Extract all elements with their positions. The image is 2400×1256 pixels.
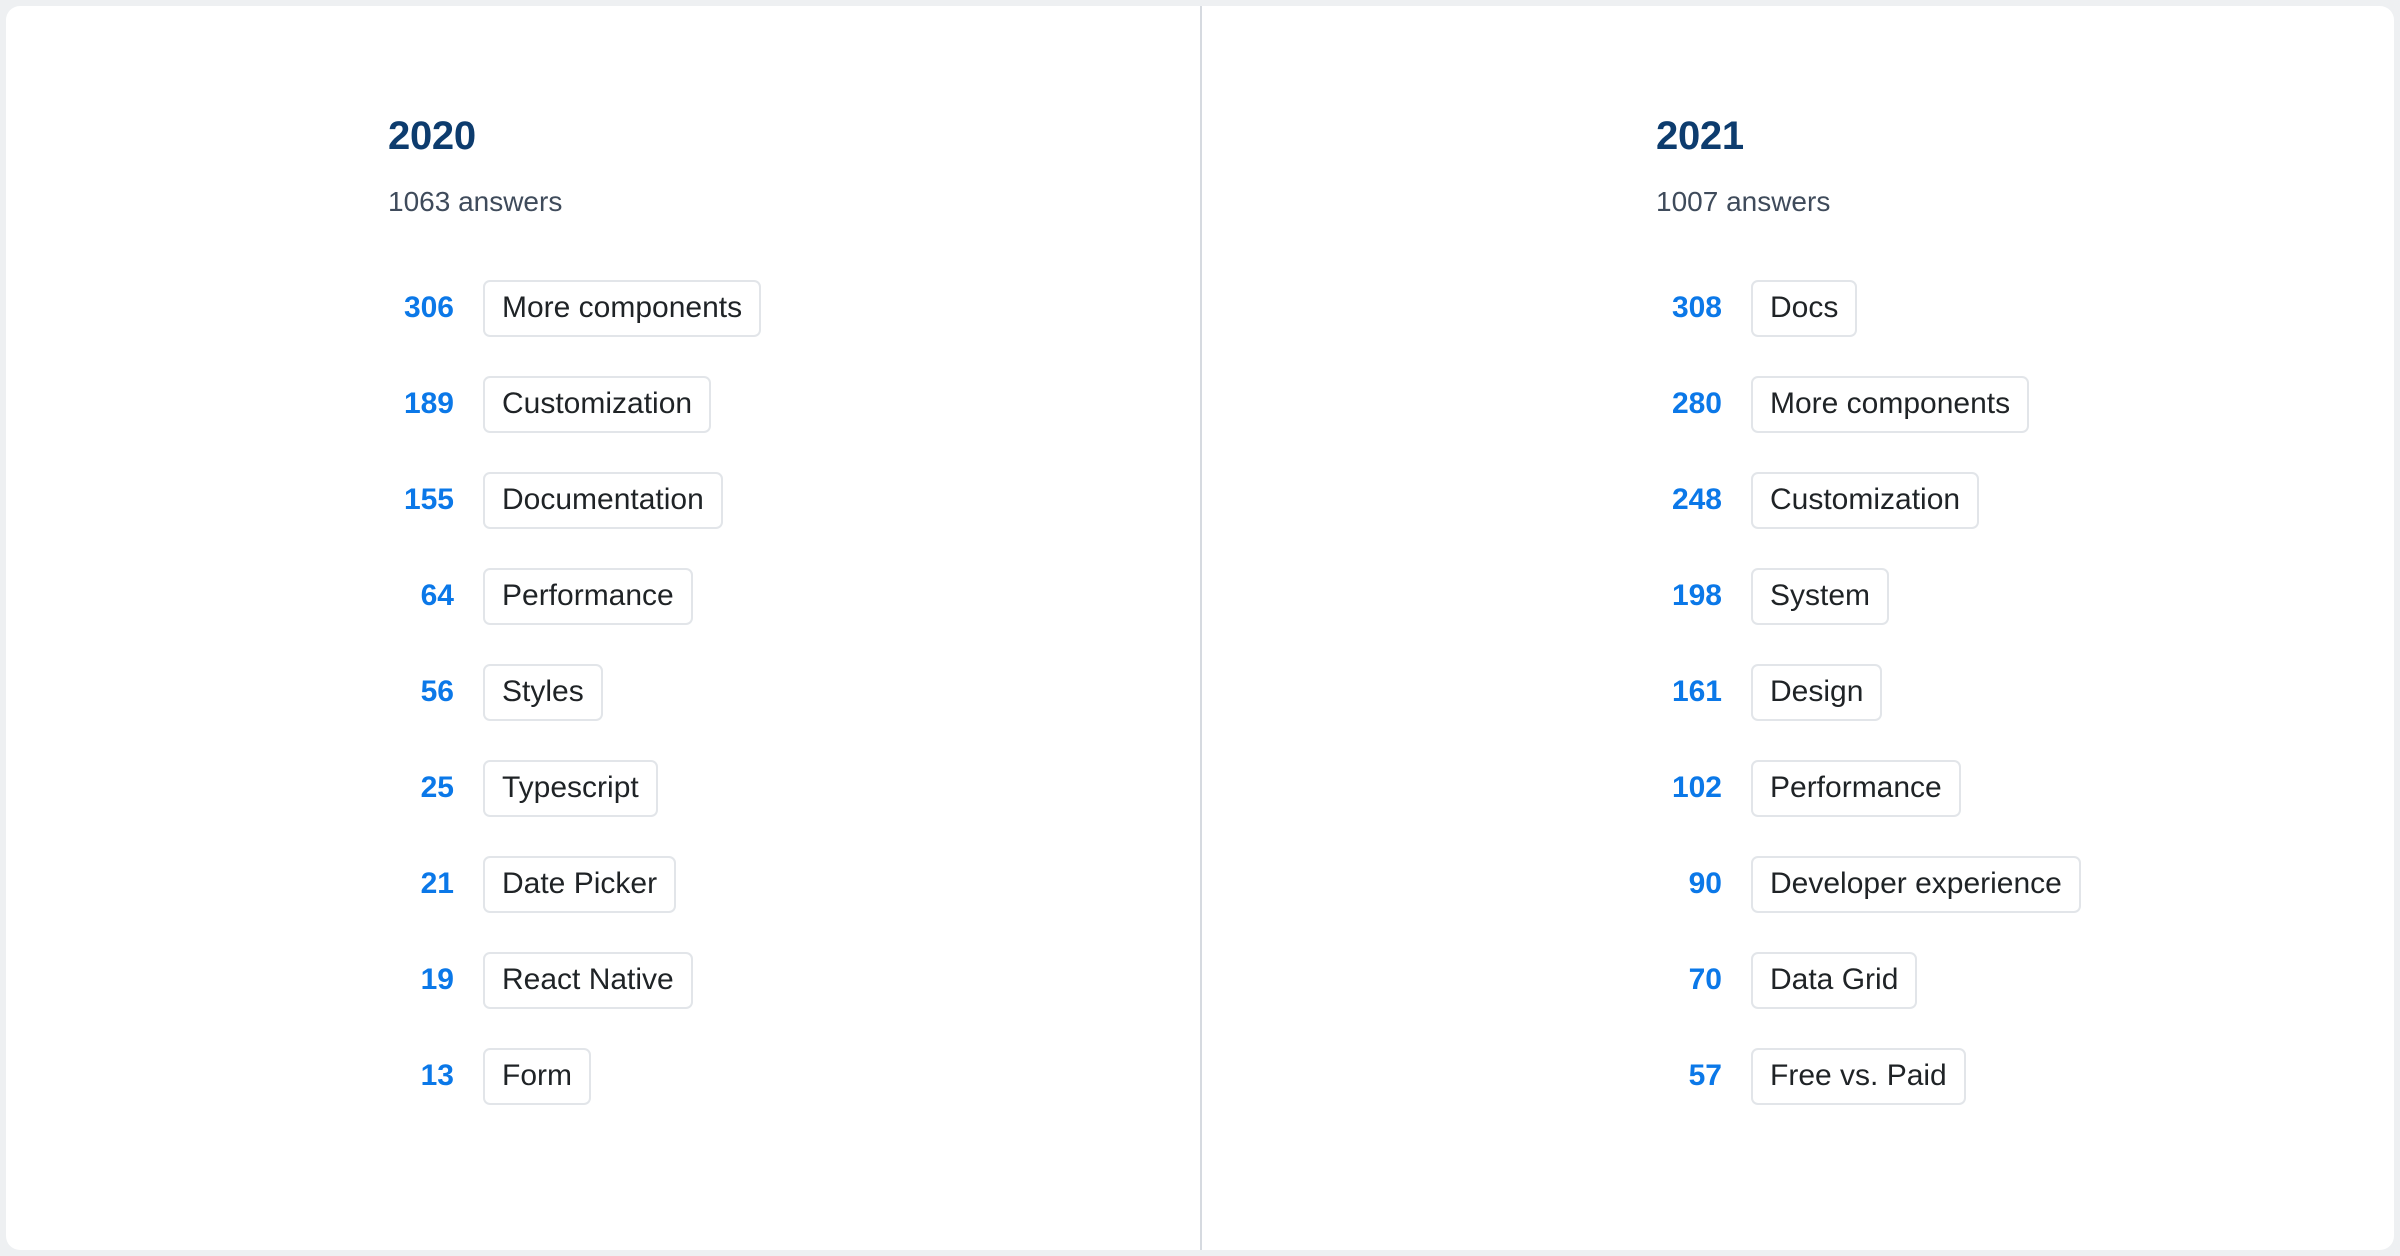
row-label-pill[interactable]: Styles: [483, 664, 603, 721]
list-item: 21 Date Picker: [388, 836, 1200, 932]
list-item: 70 Data Grid: [1656, 932, 2394, 1028]
answers-count-label: 1007 answers: [1656, 156, 2394, 216]
row-count: 248: [1656, 485, 1722, 515]
row-count: 64: [388, 581, 454, 611]
row-count: 308: [1656, 293, 1722, 323]
row-count: 90: [1656, 869, 1722, 899]
row-label-pill[interactable]: Developer experience: [1751, 856, 2081, 913]
row-label-pill[interactable]: Docs: [1751, 280, 1857, 337]
row-count: 161: [1656, 677, 1722, 707]
list-item: 25 Typescript: [388, 740, 1200, 836]
row-label-pill[interactable]: Performance: [1751, 760, 1961, 817]
list-item: 155 Documentation: [388, 452, 1200, 548]
ranked-list-2021: 308 Docs 280 More components 248 Customi…: [1656, 216, 2394, 1124]
list-item: 189 Customization: [388, 356, 1200, 452]
row-count: 57: [1656, 1061, 1722, 1091]
row-count: 102: [1656, 773, 1722, 803]
list-item: 198 System: [1656, 548, 2394, 644]
row-label-pill[interactable]: More components: [483, 280, 761, 337]
row-label-pill[interactable]: Documentation: [483, 472, 723, 529]
results-card: 2020 1063 answers 306 More components 18…: [6, 6, 2394, 1250]
row-label-pill[interactable]: Customization: [483, 376, 711, 433]
row-count: 155: [388, 485, 454, 515]
row-label-pill[interactable]: Customization: [1751, 472, 1979, 529]
list-item: 19 React Native: [388, 932, 1200, 1028]
row-count: 25: [388, 773, 454, 803]
year-panel-2020: 2020 1063 answers 306 More components 18…: [6, 6, 1200, 1250]
list-item: 102 Performance: [1656, 740, 2394, 836]
list-item: 306 More components: [388, 260, 1200, 356]
list-item: 13 Form: [388, 1028, 1200, 1124]
answers-count-label: 1063 answers: [388, 156, 1200, 216]
row-count: 198: [1656, 581, 1722, 611]
row-label-pill[interactable]: Design: [1751, 664, 1882, 721]
row-label-pill[interactable]: Form: [483, 1048, 591, 1105]
row-label-pill[interactable]: React Native: [483, 952, 693, 1009]
row-count: 189: [388, 389, 454, 419]
list-item: 308 Docs: [1656, 260, 2394, 356]
ranked-list-2020: 306 More components 189 Customization 15…: [388, 216, 1200, 1124]
row-count: 306: [388, 293, 454, 323]
list-item: 90 Developer experience: [1656, 836, 2394, 932]
row-label-pill[interactable]: System: [1751, 568, 1889, 625]
row-count: 19: [388, 965, 454, 995]
row-count: 56: [388, 677, 454, 707]
row-count: 21: [388, 869, 454, 899]
list-item: 56 Styles: [388, 644, 1200, 740]
row-label-pill[interactable]: Typescript: [483, 760, 658, 817]
list-item: 57 Free vs. Paid: [1656, 1028, 2394, 1124]
row-label-pill[interactable]: More components: [1751, 376, 2029, 433]
list-item: 280 More components: [1656, 356, 2394, 452]
row-label-pill[interactable]: Date Picker: [483, 856, 676, 913]
row-label-pill[interactable]: Performance: [483, 568, 693, 625]
row-count: 70: [1656, 965, 1722, 995]
year-comparison-columns: 2020 1063 answers 306 More components 18…: [6, 6, 2394, 1250]
year-heading: 2021: [1656, 6, 2394, 156]
list-item: 64 Performance: [388, 548, 1200, 644]
row-count: 13: [388, 1061, 454, 1091]
row-count: 280: [1656, 389, 1722, 419]
list-item: 248 Customization: [1656, 452, 2394, 548]
year-heading: 2020: [388, 6, 1200, 156]
list-item: 161 Design: [1656, 644, 2394, 740]
row-label-pill[interactable]: Free vs. Paid: [1751, 1048, 1966, 1105]
year-panel-2021: 2021 1007 answers 308 Docs 280 More comp…: [1200, 6, 2394, 1250]
row-label-pill[interactable]: Data Grid: [1751, 952, 1917, 1009]
